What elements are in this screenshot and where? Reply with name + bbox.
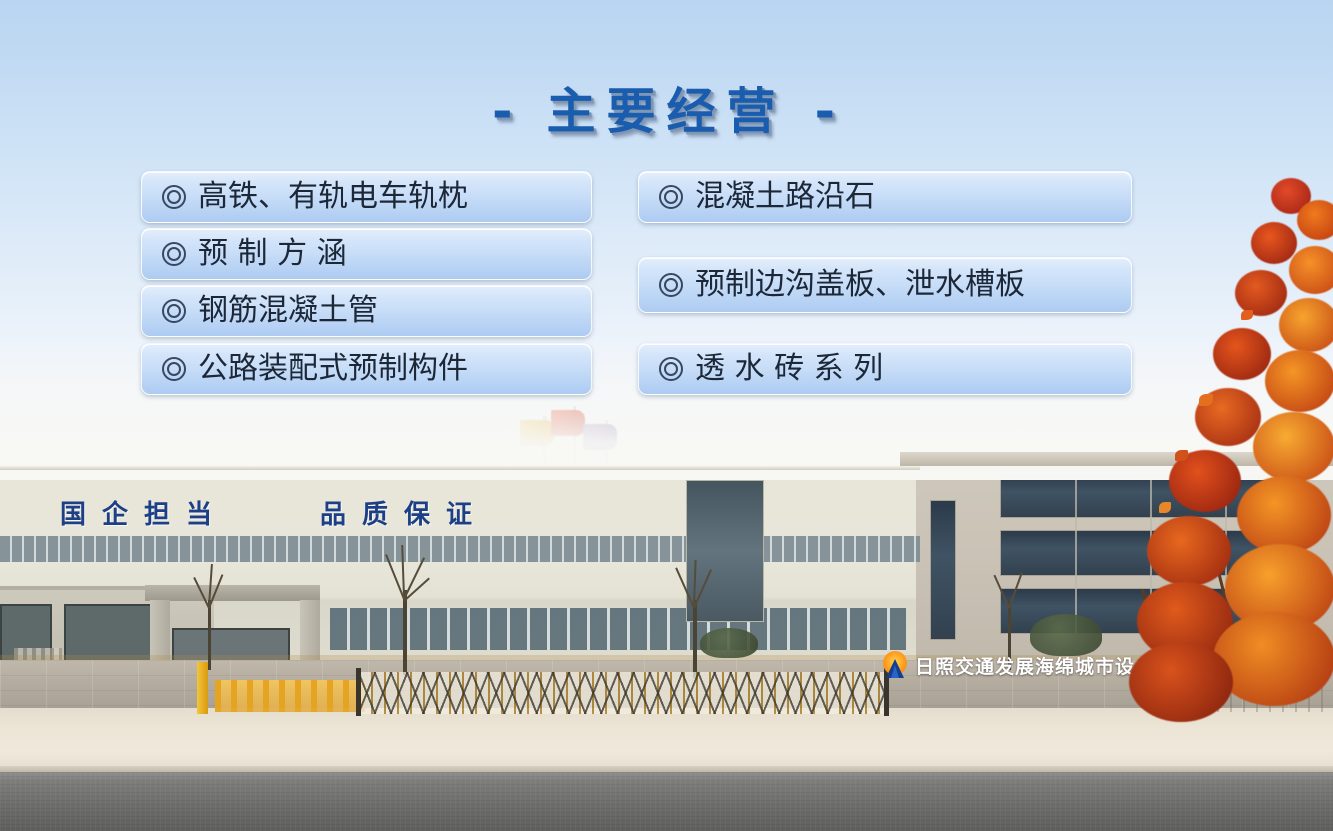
tree-branch — [1008, 572, 1023, 608]
tree-branch — [401, 545, 405, 597]
service-item-left-1[interactable]: 预 制 方 涵 — [141, 228, 592, 280]
poster-canvas: 国企担当 品质保证 日照交通发展海绵城市设备材料有限公司 — [0, 0, 1333, 831]
retractable-gate — [358, 672, 888, 714]
company-logo-icon — [880, 651, 910, 679]
leaf-cluster — [1237, 476, 1331, 554]
office-glass-side — [930, 500, 956, 640]
service-item-right-0[interactable]: 混凝土路沿石 — [638, 171, 1132, 223]
service-label: 高铁、有轨电车轨枕 — [198, 182, 468, 212]
sidewalk — [0, 708, 1333, 770]
yellow-safety-fence — [215, 680, 365, 712]
leaf-cluster — [1129, 642, 1233, 722]
tree-trunk — [403, 590, 407, 675]
page-title: - 主要经营 - — [492, 72, 841, 143]
hedge-shrub — [700, 628, 758, 658]
service-item-right-2[interactable]: 透 水 砖 系 列 — [638, 343, 1132, 395]
service-item-right-1[interactable]: 预制边沟盖板、泄水槽板 — [638, 257, 1132, 313]
tree-trunk — [208, 600, 211, 670]
double-circle-bullet-icon — [659, 185, 683, 209]
service-label: 混凝土路沿石 — [695, 182, 875, 212]
double-circle-bullet-icon — [162, 242, 186, 266]
bare-tree-2 — [370, 545, 440, 675]
tree-trunk — [693, 600, 697, 678]
bare-tree-1 — [180, 560, 240, 670]
service-item-left-0[interactable]: 高铁、有轨电车轨枕 — [141, 171, 592, 223]
barrier-gate-pole — [197, 662, 208, 714]
services-list: 高铁、有轨电车轨枕 预 制 方 涵 钢筋混凝土管 公路装配式预制构件 混凝土路沿… — [0, 0, 1333, 470]
double-circle-bullet-icon — [162, 357, 186, 381]
service-label: 公路装配式预制构件 — [198, 354, 468, 384]
service-item-left-3[interactable]: 公路装配式预制构件 — [141, 343, 592, 395]
factory-window-band-upper — [0, 536, 686, 562]
tree-branch — [675, 567, 695, 608]
double-circle-bullet-icon — [162, 185, 186, 209]
tree-branch — [993, 575, 1009, 609]
double-circle-bullet-icon — [659, 273, 683, 297]
double-circle-bullet-icon — [659, 357, 683, 381]
road-texture — [0, 772, 1333, 831]
double-circle-bullet-icon — [162, 299, 186, 323]
service-label: 钢筋混凝土管 — [198, 296, 378, 326]
title-text: 主要经营 — [546, 83, 786, 140]
building-sign-1: 国企担当 — [60, 494, 228, 531]
mountain-inner-icon — [891, 665, 899, 678]
service-label: 预 制 方 涵 — [198, 239, 347, 269]
service-label: 透 水 砖 系 列 — [695, 354, 883, 384]
page-title-block: - 主要经营 - — [0, 72, 1333, 143]
service-item-left-2[interactable]: 钢筋混凝土管 — [141, 285, 592, 337]
gate-post-left — [356, 668, 361, 716]
title-dash-left: - — [492, 83, 518, 140]
title-dash-right: - — [815, 83, 841, 140]
office-mullion-1 — [1075, 474, 1077, 636]
building-sign-2: 品质保证 — [320, 494, 488, 531]
falling-leaf — [1159, 502, 1171, 513]
service-label: 预制边沟盖板、泄水槽板 — [695, 270, 1025, 300]
bare-tree-3 — [660, 558, 730, 678]
leaf-cluster — [1147, 516, 1231, 586]
